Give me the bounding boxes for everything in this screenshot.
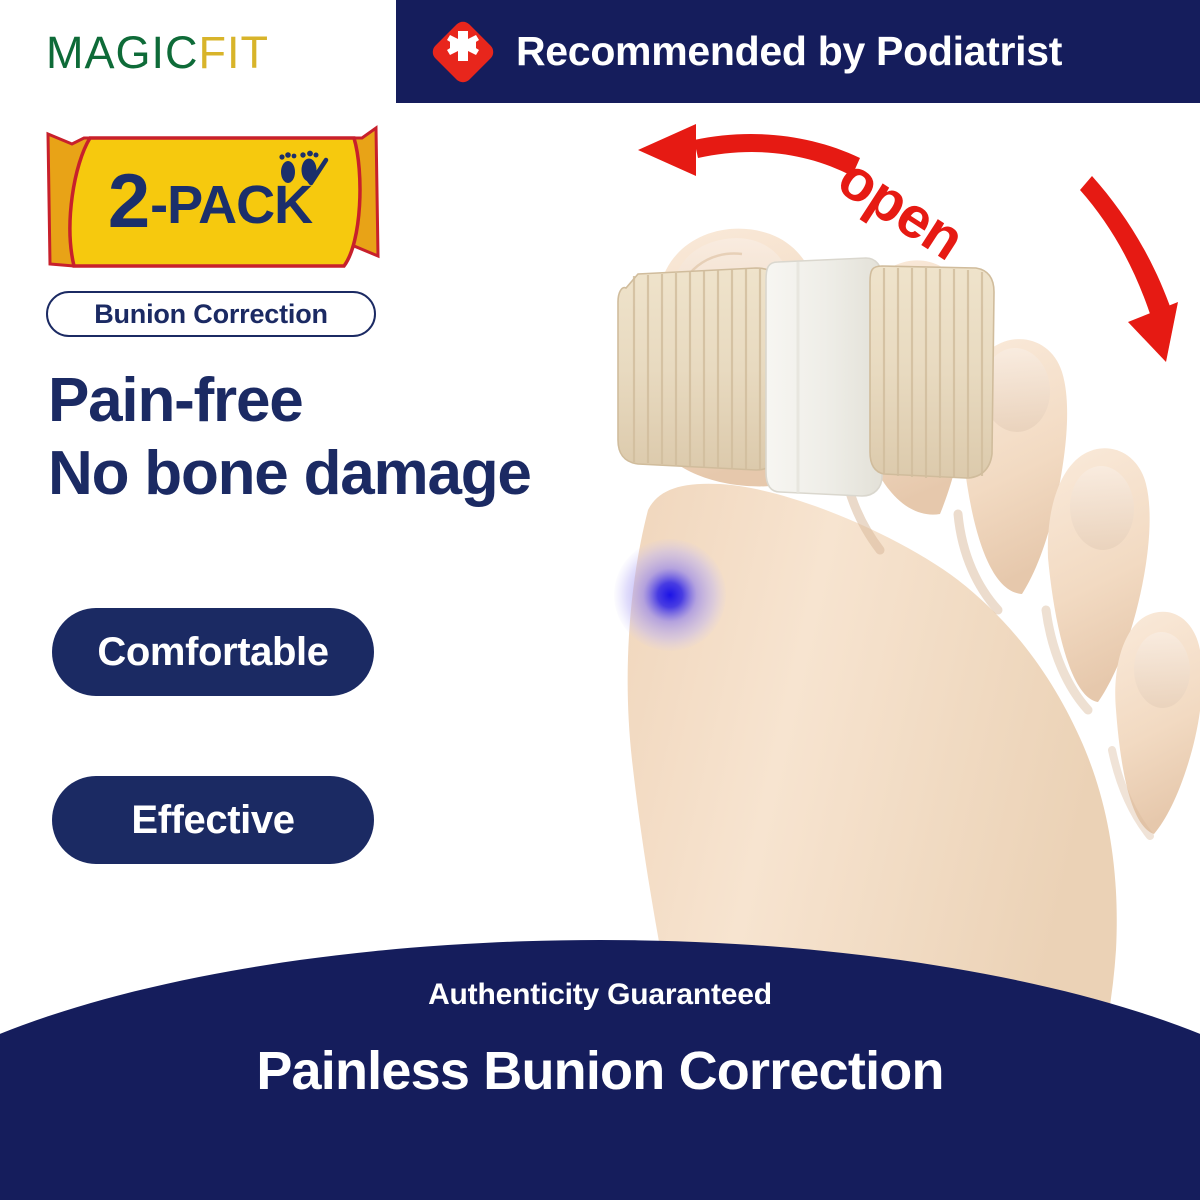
footer-subtitle: Authenticity Guaranteed [428,978,772,1012]
footer-banner-content: Authenticity Guaranteed Painless Bunion … [0,940,1200,1200]
feature-pill-label: Effective [131,798,294,843]
product-marketing-image: MAGICFIT Recommended by Podiatrist 2 -PA… [0,0,1200,1200]
ribbon-shape [44,124,384,280]
medical-star-icon [432,21,494,83]
feature-pill-comfortable: Comfortable [52,608,374,696]
feature-pill-label: Comfortable [97,630,328,675]
footer-title: Painless Bunion Correction [256,1040,943,1102]
product-photo [560,110,1200,1070]
medical-cross-star-glyph [432,21,494,83]
footer-banner: Authenticity Guaranteed Painless Bunion … [0,940,1200,1200]
logo-text: MAGICFIT [46,30,269,75]
category-pill-label: Bunion Correction [94,299,328,330]
feature-pill-effective: Effective [52,776,374,864]
bunion-highlight-spot [614,539,726,651]
brand-logo: MAGICFIT [46,22,346,82]
curved-arrow-left-icon [638,124,860,176]
logo-primary-text: MAGIC [46,27,199,78]
footprints-check-icon [276,150,332,190]
logo-secondary-text: FIT [199,27,269,78]
category-pill: Bunion Correction [46,291,376,337]
two-pack-ribbon: 2 -PACK [44,124,384,280]
curved-arrow-right-icon [1080,176,1178,362]
